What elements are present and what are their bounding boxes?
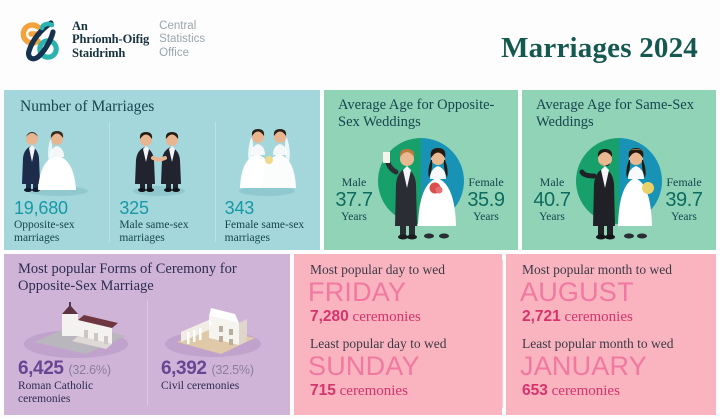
cso-english-line-3: Office bbox=[159, 47, 205, 61]
stat-value: 325 bbox=[119, 198, 148, 219]
count-number: 715 bbox=[310, 382, 336, 399]
infographic-sheet: An Phríomh-Oifig Staidrimh Central Stati… bbox=[0, 0, 720, 419]
panel-title: Average Age for Same-Sex Weddings bbox=[536, 97, 708, 130]
stat-value: 19,680 bbox=[14, 198, 68, 219]
panel-ceremony-forms: Most popular Forms of Ceremony for Oppos… bbox=[4, 254, 290, 415]
female-same-sex-couple-icon bbox=[215, 120, 320, 198]
cso-logo-mark bbox=[18, 16, 64, 64]
marriage-stat-columns: 19,680 Opposite-sex marriages bbox=[4, 120, 320, 248]
stat-label: Female same-sex marriages bbox=[225, 219, 320, 244]
ceremony-label: Roman Catholic ceremonies bbox=[18, 380, 138, 405]
count-number: 7,280 bbox=[310, 308, 349, 325]
panel-average-age-opposite-sex: Average Age for Opposite-Sex Weddings bbox=[324, 90, 518, 250]
count-unit: ceremonies bbox=[565, 309, 633, 325]
stat-value: 343 bbox=[225, 198, 254, 219]
count-number: 2,721 bbox=[522, 308, 561, 325]
female-label: Female bbox=[458, 176, 514, 189]
least-popular-month-count: 653 ceremonies bbox=[522, 382, 620, 400]
most-popular-month-value: AUGUST bbox=[520, 278, 634, 306]
ceremony-value: 6,392 (32.5%) bbox=[161, 358, 254, 380]
male-age-stat: Male 40.7 Years bbox=[526, 176, 578, 223]
count-unit: ceremonies bbox=[552, 383, 620, 399]
ceremony-value: 6,425 (32.6%) bbox=[18, 358, 111, 380]
cso-logo: An Phríomh-Oifig Staidrimh Central Stati… bbox=[18, 16, 205, 64]
church-icon bbox=[4, 298, 147, 360]
count-number: 653 bbox=[522, 382, 548, 399]
stat-label: Opposite-sex marriages bbox=[14, 219, 109, 244]
male-age-stat: Male 37.7 Years bbox=[328, 176, 380, 223]
male-same-sex-couple-icon bbox=[109, 120, 214, 198]
male-label: Male bbox=[328, 176, 380, 189]
least-popular-day-label: Least popular day to wed bbox=[310, 336, 446, 352]
cso-logo-text: An Phríomh-Oifig Staidrimh Central Stati… bbox=[72, 20, 205, 61]
panel-month-to-wed: Most popular month to wed AUGUST 2,721 c… bbox=[506, 254, 716, 415]
page-title: Marriages 2024 bbox=[501, 32, 698, 65]
ceremony-columns: 6,425 (32.6%) Roman Catholic ceremonies bbox=[4, 298, 290, 415]
civil-building-icon bbox=[147, 298, 290, 360]
panel-title: Most popular Forms of Ceremony for Oppos… bbox=[18, 261, 280, 295]
ceremony-count: 6,425 bbox=[18, 358, 64, 379]
panel-day-to-wed: Most popular day to wed FRIDAY 7,280 cer… bbox=[294, 254, 502, 415]
least-popular-day-count: 715 ceremonies bbox=[310, 382, 408, 400]
male-unit: Years bbox=[328, 211, 380, 223]
female-age-stat: Female 39.7 Years bbox=[656, 176, 712, 223]
male-value: 40.7 bbox=[526, 189, 578, 211]
cso-irish-line-3: Staidrimh bbox=[72, 47, 149, 61]
female-label: Female bbox=[656, 176, 712, 189]
cso-irish-line-2: Phríomh-Oifig bbox=[72, 33, 149, 47]
cso-english-line-1: Central bbox=[159, 20, 205, 34]
panel-number-of-marriages: Number of Marriages bbox=[4, 90, 320, 250]
least-popular-day-value: SUNDAY bbox=[308, 352, 420, 380]
male-label: Male bbox=[526, 176, 578, 189]
stat-male-same-sex: 325 Male same-sex marriages bbox=[109, 120, 214, 248]
ceremony-label: Civil ceremonies bbox=[161, 380, 281, 393]
average-age-illustration: Male 37.7 Years Female 35.9 Years bbox=[324, 132, 518, 250]
female-unit: Years bbox=[458, 211, 514, 223]
stat-opposite-sex: 19,680 Opposite-sex marriages bbox=[4, 120, 109, 248]
most-popular-month-label: Most popular month to wed bbox=[522, 262, 672, 278]
most-popular-day-label: Most popular day to wed bbox=[310, 262, 445, 278]
ceremony-civil: 6,392 (32.5%) Civil ceremonies bbox=[147, 298, 290, 415]
least-popular-month-value: JANUARY bbox=[520, 352, 647, 380]
most-popular-day-value: FRIDAY bbox=[308, 278, 406, 306]
opposite-sex-couple-icon bbox=[4, 120, 109, 198]
panel-title: Average Age for Opposite-Sex Weddings bbox=[338, 97, 510, 130]
cso-logo-english: Central Statistics Office bbox=[149, 20, 205, 61]
average-age-illustration: Male 40.7 Years Female 39.7 Years bbox=[522, 132, 716, 250]
count-unit: ceremonies bbox=[340, 383, 408, 399]
female-age-stat: Female 35.9 Years bbox=[458, 176, 514, 223]
panel-average-age-same-sex: Average Age for Same-Sex Weddings bbox=[522, 90, 716, 250]
header: An Phríomh-Oifig Staidrimh Central Stati… bbox=[0, 0, 720, 88]
cso-logo-irish: An Phríomh-Oifig Staidrimh bbox=[72, 20, 149, 61]
cso-english-line-2: Statistics bbox=[159, 33, 205, 47]
female-unit: Years bbox=[656, 211, 712, 223]
female-value: 35.9 bbox=[458, 189, 514, 211]
least-popular-month-label: Least popular month to wed bbox=[522, 336, 673, 352]
female-value: 39.7 bbox=[656, 189, 712, 211]
ceremony-count: 6,392 bbox=[161, 358, 207, 379]
most-popular-day-count: 7,280 ceremonies bbox=[310, 308, 421, 326]
stat-label: Male same-sex marriages bbox=[119, 219, 214, 244]
ceremony-percent: (32.6%) bbox=[68, 363, 110, 377]
male-unit: Years bbox=[526, 211, 578, 223]
most-popular-month-count: 2,721 ceremonies bbox=[522, 308, 633, 326]
cso-irish-line-1: An bbox=[72, 20, 149, 34]
ceremony-percent: (32.5%) bbox=[211, 363, 253, 377]
male-value: 37.7 bbox=[328, 189, 380, 211]
count-unit: ceremonies bbox=[353, 309, 421, 325]
stat-female-same-sex: 343 Female same-sex marriages bbox=[215, 120, 320, 248]
ceremony-roman-catholic: 6,425 (32.6%) Roman Catholic ceremonies bbox=[4, 298, 147, 415]
panel-title: Number of Marriages bbox=[20, 98, 154, 116]
